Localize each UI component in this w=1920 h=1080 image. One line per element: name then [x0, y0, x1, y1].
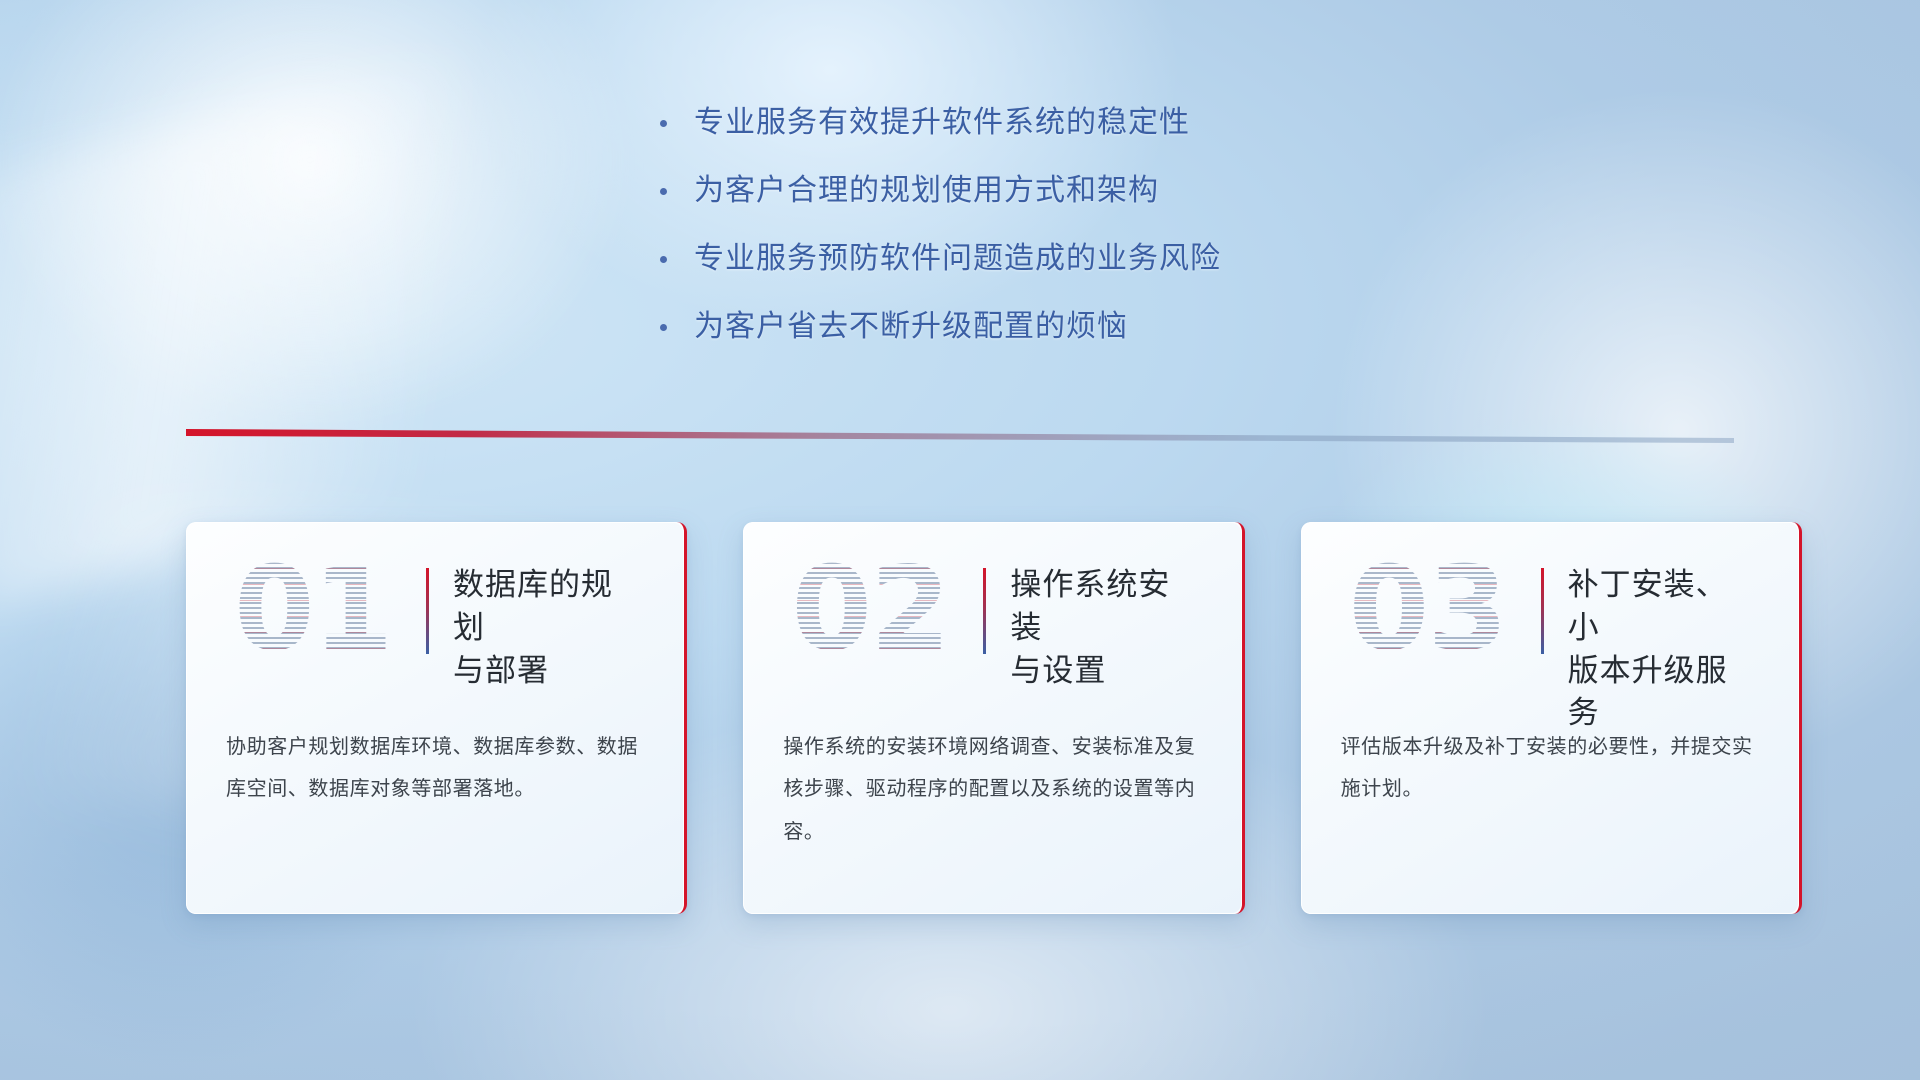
watermark-number-tint: 03 — [1349, 552, 1506, 668]
divider-shape — [186, 427, 1734, 445]
service-cards-row: 01 01 数据库的规划 与部署 协助客户规划数据库环境、数据库参数、数据库空间… — [186, 522, 1802, 922]
service-card-01[interactable]: 01 01 数据库的规划 与部署 协助客户规划数据库环境、数据库参数、数据库空间… — [186, 522, 687, 914]
bullet-label: 专业服务有效提升软件系统的稳定性 — [694, 108, 1460, 138]
bullet-label: 为客户省去不断升级配置的烦恼 — [694, 312, 1460, 342]
title-accent-bar — [426, 568, 429, 654]
card-header: 01 01 数据库的规划 与部署 — [226, 558, 640, 690]
bullet-dot-icon — [660, 176, 694, 195]
benefits-bullet-list: 专业服务有效提升软件系统的稳定性 为客户合理的规划使用方式和架构 专业服务预防软… — [660, 108, 1460, 380]
title-accent-bar — [1541, 568, 1544, 654]
bullet-dot-icon — [660, 108, 694, 127]
list-item: 专业服务有效提升软件系统的稳定性 — [660, 108, 1460, 138]
service-card-03[interactable]: 03 03 补丁安装、小 版本升级服务 评估版本升级及补丁安装的必要性，并提交实… — [1301, 522, 1802, 914]
card-title: 补丁安装、小 版本升级服务 — [1568, 564, 1755, 735]
section-divider — [186, 427, 1734, 445]
card-body-text: 协助客户规划数据库环境、数据库参数、数据库空间、数据库对象等部署落地。 — [226, 726, 640, 811]
card-header: 02 02 操作系统安装 与设置 — [783, 558, 1197, 690]
card-title: 操作系统安装 与设置 — [1010, 564, 1197, 692]
bullet-label: 专业服务预防软件问题造成的业务风险 — [694, 244, 1460, 274]
list-item: 为客户省去不断升级配置的烦恼 — [660, 312, 1460, 342]
card-header: 03 03 补丁安装、小 版本升级服务 — [1341, 558, 1755, 690]
list-item: 为客户合理的规划使用方式和架构 — [660, 176, 1460, 206]
bullet-dot-icon — [660, 312, 694, 331]
bullet-dot-icon — [660, 244, 694, 263]
card-body-text: 操作系统的安装环境网络调查、安装标准及复核步骤、驱动程序的配置以及系统的设置等内… — [783, 726, 1197, 853]
list-item: 专业服务预防软件问题造成的业务风险 — [660, 244, 1460, 274]
card-body-text: 评估版本升级及补丁安装的必要性，并提交实施计划。 — [1341, 726, 1755, 811]
service-card-02[interactable]: 02 02 操作系统安装 与设置 操作系统的安装环境网络调查、安装标准及复核步骤… — [743, 522, 1244, 914]
watermark-number-tint: 02 — [791, 552, 948, 668]
bullet-label: 为客户合理的规划使用方式和架构 — [694, 176, 1460, 206]
watermark-number-tint: 01 — [234, 552, 391, 668]
title-accent-bar — [983, 568, 986, 654]
card-title: 数据库的规划 与部署 — [453, 564, 640, 692]
